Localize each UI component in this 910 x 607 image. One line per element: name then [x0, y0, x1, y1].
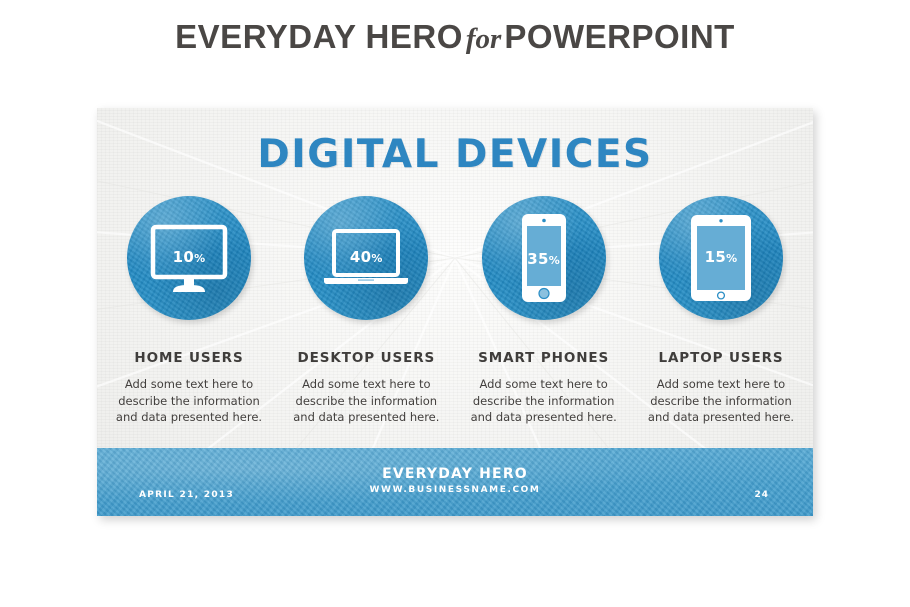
percent-value: 35 — [527, 250, 548, 268]
footer-date: APRIL 21, 2013 — [139, 490, 234, 500]
circle-home-users[interactable]: 10% — [127, 196, 251, 320]
page-title-for: for — [463, 23, 504, 55]
footer-page-number: 24 — [754, 490, 769, 500]
column-title-smart-phones: SMART PHONES — [478, 350, 609, 366]
device-column-laptop-users[interactable]: 15% LAPTOP USERS Add some text here to d… — [637, 196, 805, 426]
percent-symbol: % — [194, 252, 205, 265]
slide-title: DIGITAL DEVICES — [97, 132, 813, 177]
page-title: EVERYDAY HEROforPOWERPOINT — [175, 18, 735, 56]
footer-brand: EVERYDAY HERO — [97, 466, 813, 482]
percent-label-smart-phones: 35% — [482, 250, 606, 268]
column-title-home-users: HOME USERS — [134, 350, 243, 366]
percent-value: 40 — [350, 248, 371, 266]
percent-symbol: % — [371, 252, 382, 265]
percent-label-laptop-users: 15% — [659, 248, 783, 266]
percent-symbol: % — [726, 252, 737, 265]
column-text-home-users: Add some text here to describe the infor… — [106, 376, 272, 426]
circle-smart-phones[interactable]: 35% — [482, 196, 606, 320]
slide-canvas[interactable]: DIGITAL DEVICES 10% HOME USERS — [97, 108, 813, 516]
column-text-laptop-users: Add some text here to describe the infor… — [638, 376, 804, 426]
percent-value: 10 — [173, 248, 194, 266]
slide-footer-bar: EVERYDAY HERO WWW.BUSINESSNAME.COM APRIL… — [97, 448, 813, 516]
page-title-part1: EVERYDAY HERO — [175, 18, 463, 55]
page-title-part2: POWERPOINT — [504, 18, 735, 55]
page-header: EVERYDAY HEROforPOWERPOINT — [0, 18, 910, 56]
device-column-smart-phones[interactable]: 35% SMART PHONES Add some text here to d… — [460, 196, 628, 426]
column-title-desktop-users: DESKTOP USERS — [298, 350, 436, 366]
circle-desktop-users[interactable]: 40% — [304, 196, 428, 320]
percent-value: 15 — [705, 248, 726, 266]
percent-label-desktop-users: 40% — [304, 248, 428, 266]
column-text-desktop-users: Add some text here to describe the infor… — [283, 376, 449, 426]
column-title-laptop-users: LAPTOP USERS — [658, 350, 783, 366]
percent-label-home-users: 10% — [127, 248, 251, 266]
device-column-home-users[interactable]: 10% HOME USERS Add some text here to des… — [105, 196, 273, 426]
column-text-smart-phones: Add some text here to describe the infor… — [461, 376, 627, 426]
device-columns: 10% HOME USERS Add some text here to des… — [105, 196, 805, 426]
percent-symbol: % — [549, 254, 560, 267]
device-column-desktop-users[interactable]: 40% DESKTOP USERS Add some text here to … — [282, 196, 450, 426]
circle-laptop-users[interactable]: 15% — [659, 196, 783, 320]
